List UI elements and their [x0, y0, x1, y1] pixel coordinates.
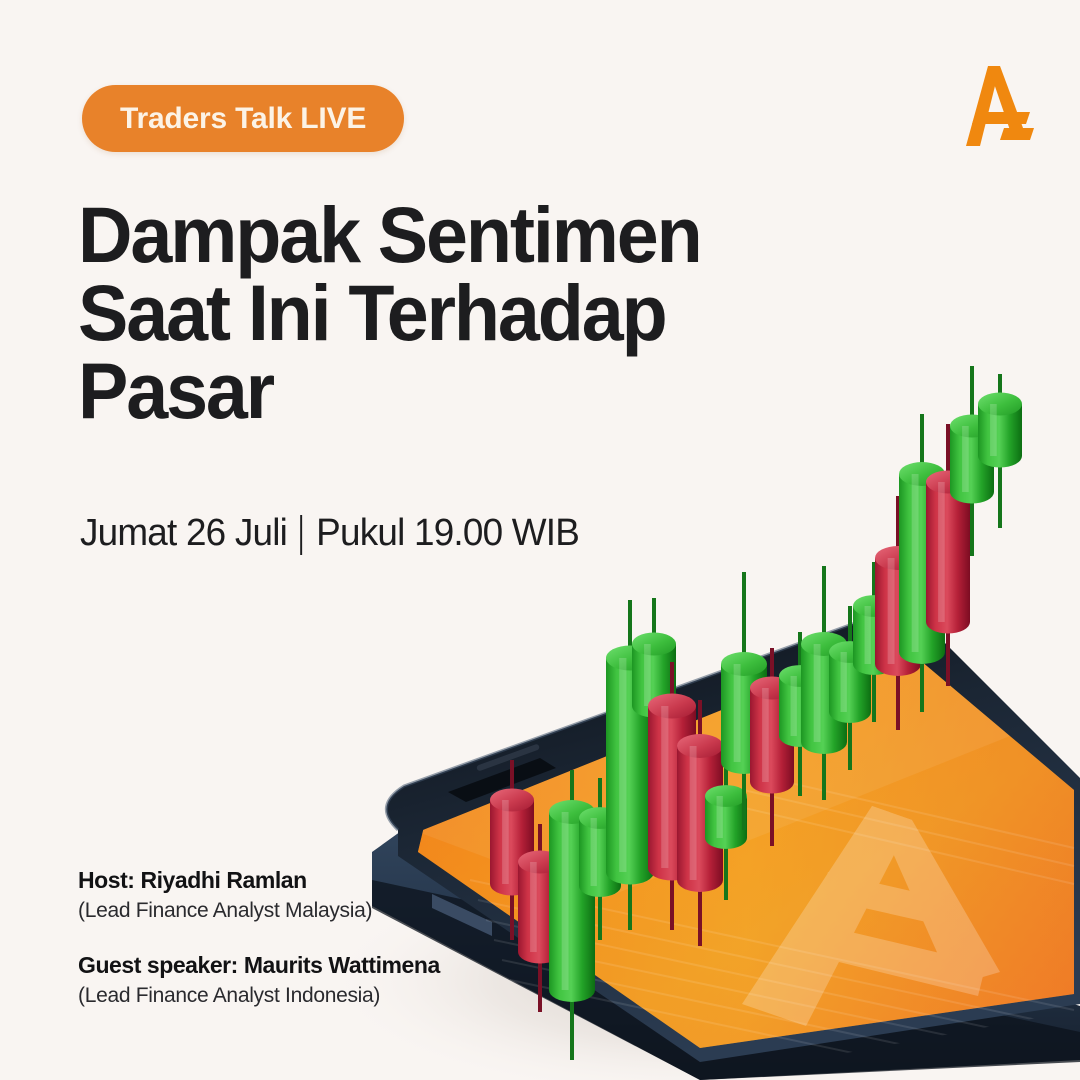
- headline-line-1: Dampak Sentimen: [78, 196, 823, 274]
- brand-logo-icon: [942, 58, 1042, 154]
- host-role: (Lead Finance Analyst Malaysia): [78, 897, 440, 924]
- event-time: Pukul 19.00 WIB: [316, 512, 579, 555]
- schedule-separator: [301, 515, 303, 555]
- guest-role: (Lead Finance Analyst Indonesia): [78, 982, 440, 1009]
- headline-line-3: Pasar: [78, 352, 823, 430]
- event-date: Jumat 26 Juli: [80, 512, 287, 555]
- event-schedule: Jumat 26 Juli Pukul 19.00 WIB: [80, 512, 579, 555]
- host-credit: Host: Riyadhi Ramlan (Lead Finance Analy…: [78, 866, 440, 925]
- live-badge-label: Traders Talk LIVE: [120, 104, 366, 134]
- guest-name: Guest speaker: Maurits Wattimena: [78, 951, 440, 980]
- host-name: Host: Riyadhi Ramlan: [78, 866, 440, 895]
- guest-credit: Guest speaker: Maurits Wattimena (Lead F…: [78, 951, 440, 1010]
- headline-line-2: Saat Ini Terhadap: [78, 274, 823, 352]
- promo-poster: Traders Talk LIVE Dampak Sentimen Saat I…: [0, 0, 1080, 1080]
- live-badge: Traders Talk LIVE: [82, 85, 404, 152]
- speaker-credits: Host: Riyadhi Ramlan (Lead Finance Analy…: [78, 866, 440, 1009]
- page-title: Dampak Sentimen Saat Ini Terhadap Pasar: [78, 196, 823, 431]
